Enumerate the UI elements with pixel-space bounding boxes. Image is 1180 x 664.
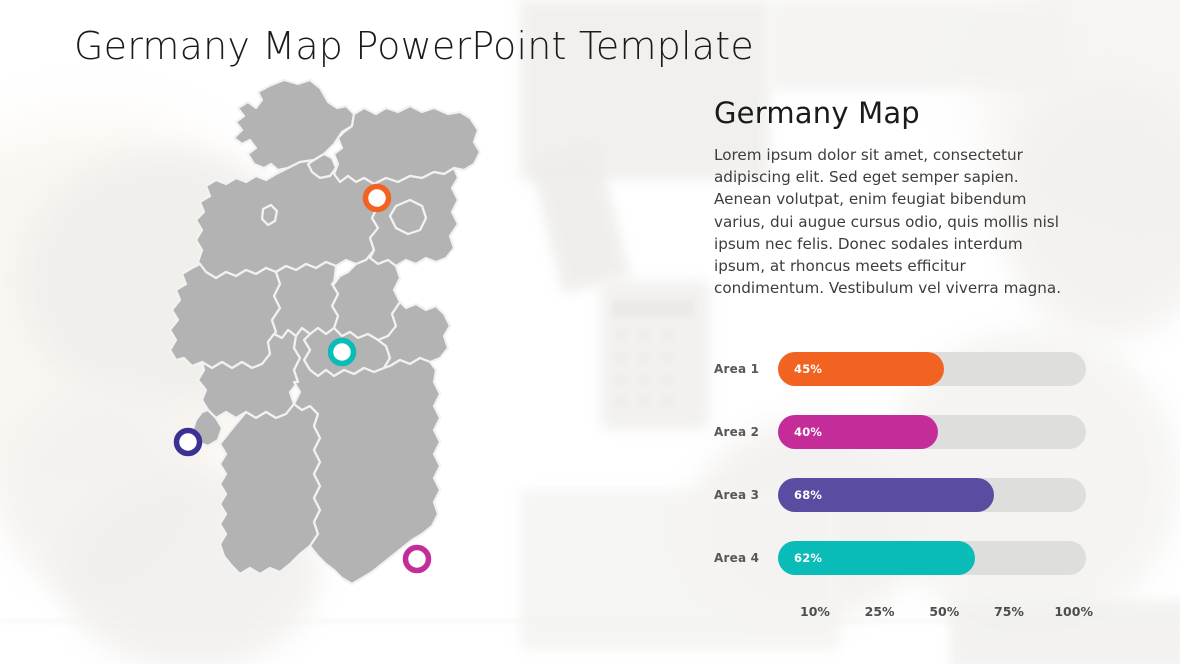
bar-row: Area 462% <box>714 541 1086 575</box>
map-marker-orange-ring[interactable] <box>366 187 389 210</box>
map-marker-magenta-ring[interactable] <box>406 548 429 571</box>
bar-fill[interactable]: 62% <box>778 541 975 575</box>
bar-rows: Area 145%Area 240%Area 368%Area 462% <box>714 352 1086 575</box>
bar-row: Area 368% <box>714 478 1086 512</box>
state-niedersachsen <box>196 160 378 278</box>
state-nordrhein-westfalen <box>170 264 280 368</box>
bar-category-label: Area 2 <box>714 425 772 439</box>
body-paragraph: Lorem ipsum dolor sit amet, consectetur … <box>714 144 1074 299</box>
content-column: Germany Map Lorem ipsum dolor sit amet, … <box>714 96 1086 299</box>
bar-fill[interactable]: 68% <box>778 478 994 512</box>
axis-tick-label: 10% <box>800 604 830 619</box>
bar-value-label: 62% <box>794 551 822 565</box>
axis-tick-label: 50% <box>929 604 959 619</box>
map-marker-purple-ring[interactable] <box>177 431 200 454</box>
bar-value-label: 45% <box>794 362 822 376</box>
state-berlin <box>390 200 426 234</box>
bar-value-label: 40% <box>794 425 822 439</box>
germany-map-container[interactable] <box>138 78 506 646</box>
axis-tick-label: 25% <box>865 604 895 619</box>
bar-category-label: Area 1 <box>714 362 772 376</box>
bar-track[interactable]: 62% <box>778 541 1086 575</box>
bar-value-label: 68% <box>794 488 822 502</box>
axis-tick-label: 100% <box>1054 604 1093 619</box>
page-title: Germany Map PowerPoint Template <box>74 24 754 68</box>
area-progress-chart: Area 145%Area 240%Area 368%Area 462% 10%… <box>714 352 1086 624</box>
bar-row: Area 240% <box>714 415 1086 449</box>
slide-canvas: Germany Map PowerPoint Template <box>0 0 1180 664</box>
state-baden-wuerttemberg <box>220 404 320 574</box>
bar-track[interactable]: 68% <box>778 478 1086 512</box>
section-heading: Germany Map <box>714 96 1086 130</box>
state-mecklenburg-vorpommern <box>334 106 480 184</box>
bar-track[interactable]: 45% <box>778 352 1086 386</box>
axis-tick-label: 75% <box>994 604 1024 619</box>
bar-fill[interactable]: 45% <box>778 352 944 386</box>
chart-x-axis: 10%25%50%75%100% <box>778 604 1086 624</box>
bar-row: Area 145% <box>714 352 1086 386</box>
germany-states <box>170 80 480 584</box>
map-marker-teal-ring[interactable] <box>331 341 354 364</box>
bar-category-label: Area 4 <box>714 551 772 565</box>
bar-track[interactable]: 40% <box>778 415 1086 449</box>
germany-map-svg[interactable] <box>138 78 506 646</box>
bar-category-label: Area 3 <box>714 488 772 502</box>
bar-fill[interactable]: 40% <box>778 415 938 449</box>
